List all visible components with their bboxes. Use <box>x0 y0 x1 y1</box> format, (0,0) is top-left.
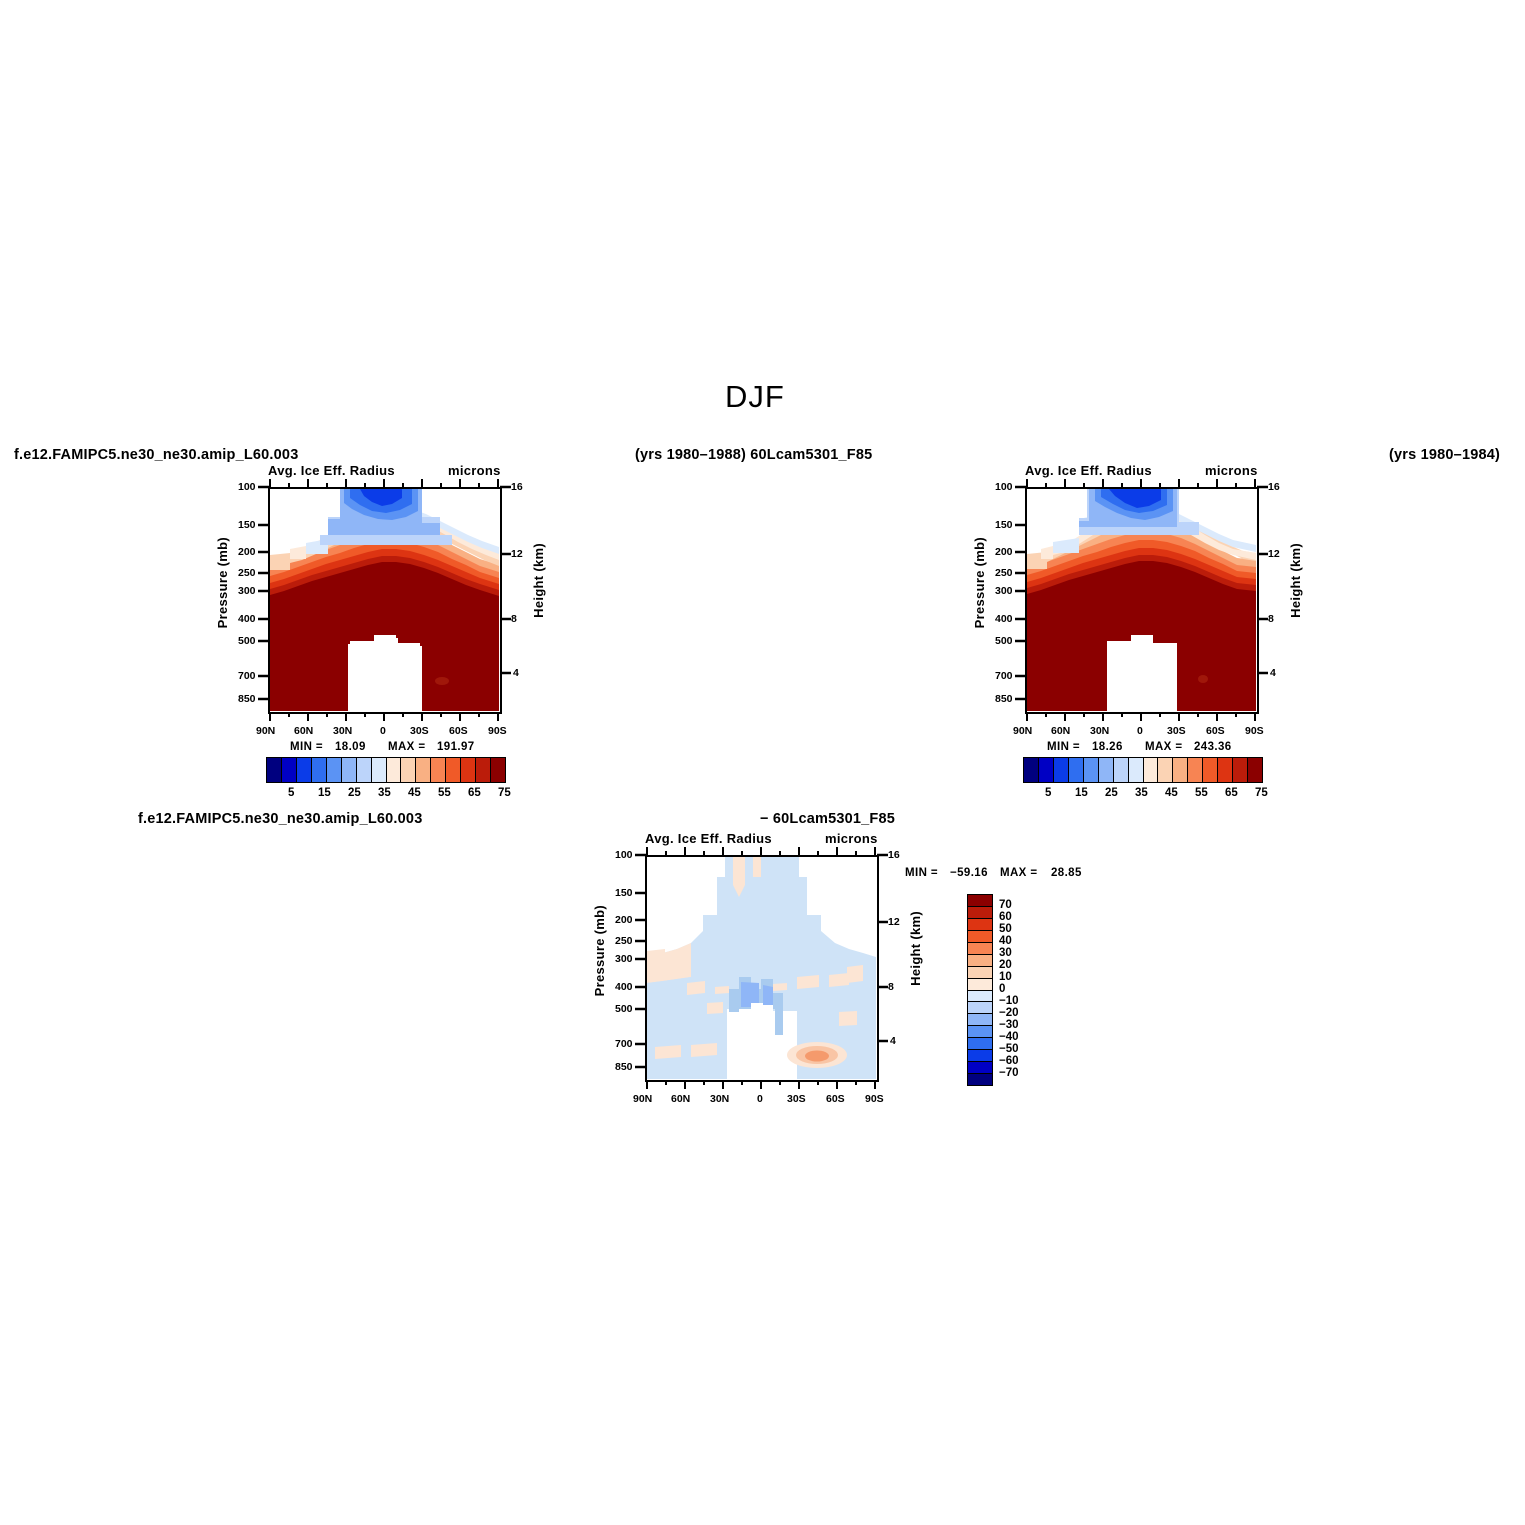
panel2-ytick-100: 100 <box>995 481 1013 493</box>
panel1-ytick-200: 200 <box>238 546 256 558</box>
colorbar-cell-14 <box>476 758 491 782</box>
panel1-xtick-60N: 60N <box>294 725 313 737</box>
panel1-units-label: microns <box>448 463 501 478</box>
panel2-ytick-400: 400 <box>995 613 1013 625</box>
colorbar-cell-14 <box>1233 758 1248 782</box>
panel3-variable-label: Avg. Ice Eff. Radius <box>645 831 772 846</box>
colorbar-cell-12 <box>1203 758 1218 782</box>
panel2-plot-area <box>1025 487 1259 714</box>
panel1-ytick-700: 700 <box>238 670 256 682</box>
panel2-xtick-90N: 90N <box>1013 725 1032 737</box>
panel2-left-tickmarks <box>1015 485 1027 717</box>
panel1-pressure-axis-title: Pressure (mb) <box>215 537 230 628</box>
panel1-xtick-30S: 30S <box>410 725 429 737</box>
top-right-years-label: (yrs 1980–1984) <box>1389 447 1500 463</box>
panel3-plot-area <box>645 855 879 1082</box>
panel2-ytick-h12: 12 <box>1268 548 1280 560</box>
colorbar-cell-6 <box>1114 758 1129 782</box>
colorbar-cell-0 <box>267 758 282 782</box>
colorbar-cell-9 <box>1158 758 1173 782</box>
panel3-ytick-850: 850 <box>615 1061 633 1073</box>
panel2-right-tickmarks <box>1257 485 1269 717</box>
panel3-ytick-100: 100 <box>615 849 633 861</box>
panel1-min-value: 18.09 <box>335 741 366 753</box>
panel3-max-label: MAX = <box>1000 867 1037 879</box>
diff-colorbar-cell-0 <box>968 895 992 907</box>
colorbar-cell-1 <box>1039 758 1054 782</box>
diff-colorbar-cell-13 <box>968 1050 992 1062</box>
colorbar-cell-8 <box>1144 758 1159 782</box>
colorbar-cell-15 <box>1248 758 1262 782</box>
diff-colorbar-label-13: −60 <box>999 1055 1019 1067</box>
diff-colorbar-label-10: −30 <box>999 1019 1019 1031</box>
panel2-top-tickmarks <box>1025 479 1259 489</box>
colorbar-cell-3 <box>1069 758 1084 782</box>
colorbar-label-5: 5 <box>1045 787 1051 799</box>
colorbar-cell-3 <box>312 758 327 782</box>
diff-colorbar-cell-8 <box>968 991 992 1003</box>
colorbar-label-55: 55 <box>1195 787 1208 799</box>
colorbar-label-15: 15 <box>318 787 331 799</box>
panel3-colorbar-labels: 706050403020100−10−20−30−40−50−60−70 <box>997 894 1037 1086</box>
panel1-ytick-h4: 4 <box>513 667 519 679</box>
panel3-ytick-150: 150 <box>615 887 633 899</box>
panel1-xtick-60S: 60S <box>449 725 468 737</box>
panel1-ytick-250: 250 <box>238 567 256 579</box>
panel2-ytick-500: 500 <box>995 635 1013 647</box>
panel1-variable-label: Avg. Ice Eff. Radius <box>268 463 395 478</box>
season-title: DJF <box>725 379 785 415</box>
colorbar-label-65: 65 <box>1225 787 1238 799</box>
panel2-xtick-60S: 60S <box>1206 725 1225 737</box>
colorbar-cell-6 <box>357 758 372 782</box>
diff-colorbar-cell-12 <box>968 1038 992 1050</box>
panel2-min-label: MIN = <box>1047 741 1080 753</box>
panel1-max-label: MAX = <box>388 741 425 753</box>
colorbar-cell-13 <box>461 758 476 782</box>
panel3-ytick-300: 300 <box>615 953 633 965</box>
panel1-ytick-850: 850 <box>238 693 256 705</box>
panel3-xtick-90S: 90S <box>865 1093 884 1105</box>
colorbar-cell-7 <box>372 758 387 782</box>
panel2-colorbar-labels: 515253545556575 <box>1023 787 1263 803</box>
colorbar-cell-13 <box>1218 758 1233 782</box>
diff-colorbar-cell-5 <box>968 955 992 967</box>
panel1-xtick-90N: 90N <box>256 725 275 737</box>
diff-colorbar-label-0: 70 <box>999 899 1012 911</box>
panel3-min-value: −59.16 <box>950 867 988 879</box>
colorbar-cell-11 <box>431 758 446 782</box>
panel2-ytick-h16: 16 <box>1268 481 1280 493</box>
panel2-bottom-tickmarks <box>1025 713 1259 723</box>
panel2-ytick-850: 850 <box>995 693 1013 705</box>
panel3-units-label: microns <box>825 831 878 846</box>
diff-colorbar-label-11: −40 <box>999 1031 1019 1043</box>
colorbar-label-75: 75 <box>1255 787 1268 799</box>
panel2-xtick-30N: 30N <box>1090 725 1109 737</box>
colorbar-label-45: 45 <box>1165 787 1178 799</box>
panel1-ytick-h12: 12 <box>511 548 523 560</box>
panel3-pressure-axis-title: Pressure (mb) <box>592 905 607 996</box>
colorbar-cell-11 <box>1188 758 1203 782</box>
diff-colorbar-label-9: −20 <box>999 1007 1019 1019</box>
panel1-ytick-150: 150 <box>238 519 256 531</box>
panel1-top-tickmarks <box>268 479 502 489</box>
top-left-case-label: f.e12.FAMIPC5.ne30_ne30.amip_L60.003 <box>14 447 298 463</box>
diff-colorbar-label-1: 60 <box>999 911 1012 923</box>
panel1-ytick-100: 100 <box>238 481 256 493</box>
colorbar-cell-0 <box>1024 758 1039 782</box>
colorbar-label-45: 45 <box>408 787 421 799</box>
panel1-xtick-30N: 30N <box>333 725 352 737</box>
diff-colorbar-cell-3 <box>968 931 992 943</box>
panel2-ytick-250: 250 <box>995 567 1013 579</box>
panel3-xtick-30S: 30S <box>787 1093 806 1105</box>
diff-right-case-label: − 60Lcam5301_F85 <box>760 811 895 827</box>
diff-colorbar-label-3: 40 <box>999 935 1012 947</box>
panel3-max-value: 28.85 <box>1051 867 1082 879</box>
panel3-top-tickmarks <box>645 847 879 857</box>
colorbar-label-25: 25 <box>348 787 361 799</box>
panel3-ytick-700: 700 <box>615 1038 633 1050</box>
colorbar-label-35: 35 <box>1135 787 1148 799</box>
colorbar-label-25: 25 <box>1105 787 1118 799</box>
diff-colorbar-label-14: −70 <box>999 1067 1019 1079</box>
panel3-colorbar <box>967 894 993 1086</box>
panel3-min-label: MIN = <box>905 867 938 879</box>
diff-colorbar-cell-7 <box>968 979 992 991</box>
panel3-ytick-h12: 12 <box>888 916 900 928</box>
panel2-max-value: 243.36 <box>1194 741 1232 753</box>
colorbar-cell-4 <box>327 758 342 782</box>
panel2-ytick-700: 700 <box>995 670 1013 682</box>
panel2-ytick-150: 150 <box>995 519 1013 531</box>
panel3-ytick-h16: 16 <box>888 849 900 861</box>
panel1-xtick-90S: 90S <box>488 725 507 737</box>
panel1-contour-field <box>270 489 499 711</box>
diff-colorbar-label-6: 10 <box>999 971 1012 983</box>
panel3-xtick-90N: 90N <box>633 1093 652 1105</box>
panel2-height-axis-title: Height (km) <box>1288 543 1303 618</box>
diff-colorbar-label-12: −50 <box>999 1043 1019 1055</box>
colorbar-cell-10 <box>416 758 431 782</box>
panel1-ytick-500: 500 <box>238 635 256 647</box>
colorbar-cell-5 <box>1099 758 1114 782</box>
panel1-min-label: MIN = <box>290 741 323 753</box>
panel2-xtick-30S: 30S <box>1167 725 1186 737</box>
panel1-ytick-400: 400 <box>238 613 256 625</box>
panel3-ytick-200: 200 <box>615 914 633 926</box>
diff-colorbar-cell-4 <box>968 943 992 955</box>
panel2-units-label: microns <box>1205 463 1258 478</box>
diff-colorbar-label-8: −10 <box>999 995 1019 1007</box>
panel2-ytick-h4: 4 <box>1270 667 1276 679</box>
colorbar-cell-2 <box>297 758 312 782</box>
panel2-min-value: 18.26 <box>1092 741 1123 753</box>
panel3-ytick-400: 400 <box>615 981 633 993</box>
panel1-right-tickmarks <box>500 485 512 717</box>
panel2-max-label: MAX = <box>1145 741 1182 753</box>
panel1-ytick-300: 300 <box>238 585 256 597</box>
panel3-height-axis-title: Height (km) <box>908 911 923 986</box>
colorbar-cell-7 <box>1129 758 1144 782</box>
diff-colorbar-cell-2 <box>968 919 992 931</box>
panel2-xtick-90S: 90S <box>1245 725 1264 737</box>
colorbar-cell-15 <box>491 758 505 782</box>
panel2-ytick-200: 200 <box>995 546 1013 558</box>
panel1-colorbar <box>266 757 506 783</box>
panel1-ytick-h16: 16 <box>511 481 523 493</box>
panel3-xtick-60N: 60N <box>671 1093 690 1105</box>
panel2-xtick-60N: 60N <box>1051 725 1070 737</box>
panel1-left-tickmarks <box>258 485 270 717</box>
top-center-years-label: (yrs 1980–1988) 60Lcam5301_F85 <box>635 447 872 463</box>
colorbar-label-5: 5 <box>288 787 294 799</box>
panel1-plot-area <box>268 487 502 714</box>
panel3-ytick-250: 250 <box>615 935 633 947</box>
colorbar-cell-5 <box>342 758 357 782</box>
panel1-height-axis-title: Height (km) <box>531 543 546 618</box>
diff-colorbar-cell-11 <box>968 1026 992 1038</box>
colorbar-label-15: 15 <box>1075 787 1088 799</box>
colorbar-cell-8 <box>387 758 402 782</box>
colorbar-cell-10 <box>1173 758 1188 782</box>
colorbar-cell-4 <box>1084 758 1099 782</box>
panel3-left-tickmarks <box>635 853 647 1085</box>
panel3-xtick-0: 0 <box>757 1093 763 1105</box>
diff-colorbar-cell-6 <box>968 967 992 979</box>
panel2-colorbar <box>1023 757 1263 783</box>
panel2-contour-field <box>1027 489 1256 711</box>
panel3-xtick-30N: 30N <box>710 1093 729 1105</box>
diff-colorbar-label-5: 20 <box>999 959 1012 971</box>
colorbar-cell-1 <box>282 758 297 782</box>
panel3-right-tickmarks <box>877 853 889 1085</box>
panel3-xtick-60S: 60S <box>826 1093 845 1105</box>
diff-colorbar-label-7: 0 <box>999 983 1005 995</box>
panel1-max-value: 191.97 <box>437 741 475 753</box>
panel2-variable-label: Avg. Ice Eff. Radius <box>1025 463 1152 478</box>
diff-colorbar-cell-14 <box>968 1062 992 1074</box>
panel3-bottom-tickmarks <box>645 1081 879 1091</box>
panel3-ytick-h4: 4 <box>890 1035 896 1047</box>
panel3-ytick-500: 500 <box>615 1003 633 1015</box>
colorbar-cell-9 <box>401 758 416 782</box>
colorbar-cell-12 <box>446 758 461 782</box>
panel2-ytick-300: 300 <box>995 585 1013 597</box>
colorbar-label-75: 75 <box>498 787 511 799</box>
diff-colorbar-cell-1 <box>968 907 992 919</box>
diff-colorbar-label-2: 50 <box>999 923 1012 935</box>
diff-left-case-label: f.e12.FAMIPC5.ne30_ne30.amip_L60.003 <box>138 811 422 827</box>
colorbar-cell-2 <box>1054 758 1069 782</box>
panel1-xtick-0: 0 <box>380 725 386 737</box>
diff-colorbar-cell-9 <box>968 1002 992 1014</box>
panel1-bottom-tickmarks <box>268 713 502 723</box>
diff-colorbar-label-4: 30 <box>999 947 1012 959</box>
panel2-pressure-axis-title: Pressure (mb) <box>972 537 987 628</box>
diff-colorbar-cell-15 <box>968 1074 992 1085</box>
panel1-colorbar-labels: 515253545556575 <box>266 787 506 803</box>
panel3-contour-field <box>647 857 876 1079</box>
colorbar-label-35: 35 <box>378 787 391 799</box>
colorbar-label-65: 65 <box>468 787 481 799</box>
colorbar-label-55: 55 <box>438 787 451 799</box>
diff-colorbar-cell-10 <box>968 1014 992 1026</box>
panel2-xtick-0: 0 <box>1137 725 1143 737</box>
